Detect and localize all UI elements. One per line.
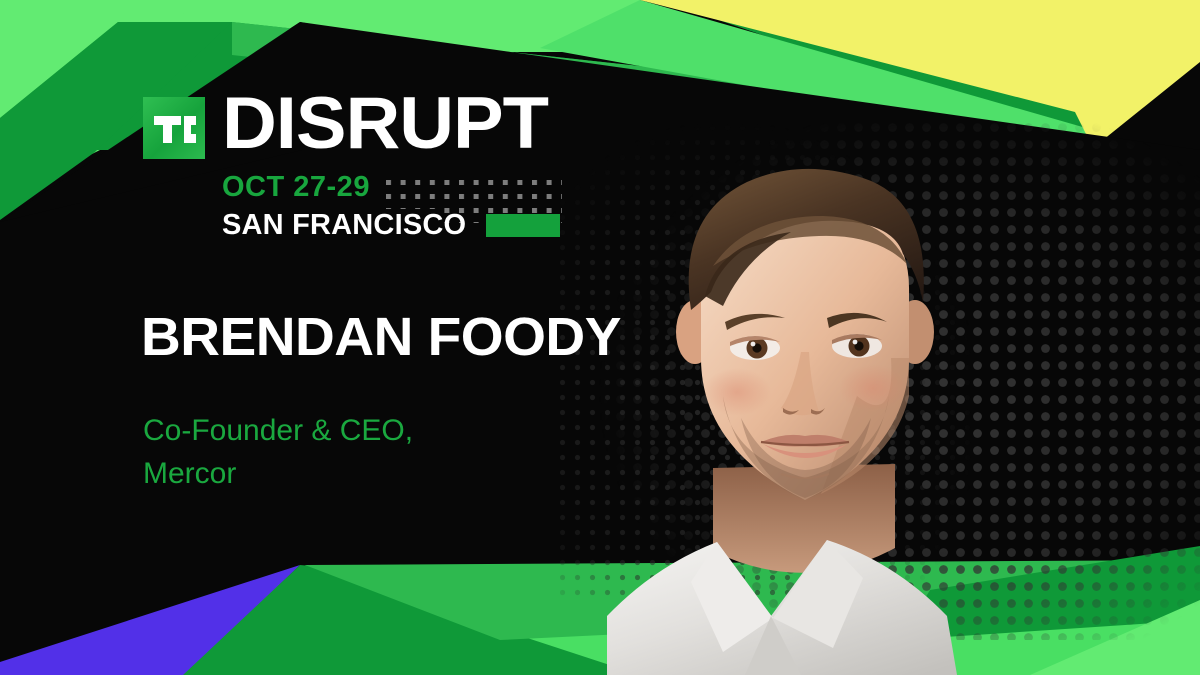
speaker-title: Co-Founder & CEO, Mercor bbox=[143, 410, 413, 496]
speaker-title-line-2: Mercor bbox=[143, 453, 413, 496]
portrait-eye-highlight-left bbox=[751, 342, 756, 347]
speaker-title-line-1: Co-Founder & CEO, bbox=[143, 410, 413, 453]
portrait-eye-highlight-right bbox=[853, 340, 858, 345]
event-lockup: DISRUPT OCT 27-29 SAN FRANCISCO bbox=[143, 92, 573, 242]
event-brand-title: DISRUPT bbox=[222, 92, 548, 156]
event-city-row: SAN FRANCISCO bbox=[222, 209, 573, 242]
portrait-cheek-right bbox=[839, 364, 907, 412]
logo-row: DISRUPT bbox=[143, 92, 573, 159]
disrupt-speaker-card: DISRUPT OCT 27-29 SAN FRANCISCO BRENDAN … bbox=[0, 0, 1200, 675]
portrait-illustration bbox=[595, 96, 1015, 675]
tc-logo-icon bbox=[143, 97, 205, 159]
event-dates: OCT 27-29 bbox=[222, 171, 370, 204]
speaker-portrait bbox=[595, 96, 1015, 675]
green-accent-bar bbox=[486, 214, 560, 237]
event-city: SAN FRANCISCO bbox=[222, 209, 466, 242]
event-dates-row: OCT 27-29 bbox=[222, 171, 573, 204]
speaker-name: BRENDAN FOODY bbox=[141, 310, 621, 364]
portrait-cheek-left bbox=[703, 368, 771, 416]
